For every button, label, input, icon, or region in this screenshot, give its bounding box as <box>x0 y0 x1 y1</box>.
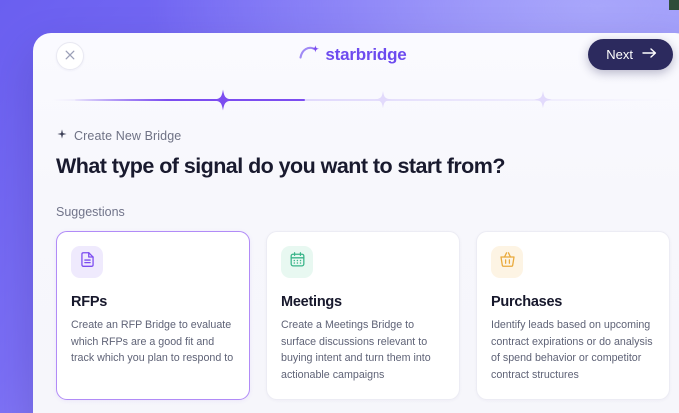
progress-step-2[interactable] <box>369 85 397 115</box>
suggestion-card-grid: RFPs Create an RFP Bridge to evaluate wh… <box>56 231 670 413</box>
card-title: Meetings <box>281 294 445 310</box>
progress-step-3[interactable] <box>529 85 557 115</box>
document-icon <box>79 251 96 273</box>
suggestion-card-purchases[interactable]: Purchases Identify leads based on upcomi… <box>476 231 670 400</box>
progress-step-1[interactable] <box>209 85 237 115</box>
shopping-basket-icon <box>499 251 516 273</box>
next-button[interactable]: Next <box>588 39 673 70</box>
breadcrumb: Create New Bridge <box>56 127 670 145</box>
card-description: Create a Meetings Bridge to surface disc… <box>281 317 445 383</box>
suggestion-card-rfps[interactable]: RFPs Create an RFP Bridge to evaluate wh… <box>56 231 250 400</box>
calendar-icon <box>289 251 306 273</box>
card-title: RFPs <box>71 294 235 310</box>
background-corner-artifact <box>669 0 679 10</box>
breadcrumb-label: Create New Bridge <box>74 129 181 143</box>
page-title: What type of signal do you want to start… <box>56 154 670 179</box>
suggestion-card-meetings[interactable]: Meetings Create a Meetings Bridge to sur… <box>266 231 460 400</box>
arrow-right-icon <box>642 47 657 62</box>
progress-fill-line <box>75 99 305 102</box>
modal-body: Create New Bridge What type of signal do… <box>33 115 679 413</box>
card-title: Purchases <box>491 294 655 310</box>
shopping-basket-icon-badge <box>491 246 523 278</box>
card-description: Create an RFP Bridge to evaluate which R… <box>71 317 235 367</box>
calendar-icon-badge <box>281 246 313 278</box>
sparkle-icon <box>56 127 68 145</box>
next-button-label: Next <box>606 47 633 62</box>
brand-lockup: starbridge <box>33 43 679 66</box>
brand-name: starbridge <box>325 45 406 65</box>
create-bridge-modal: starbridge Next <box>33 33 679 413</box>
modal-header: starbridge Next <box>33 33 679 79</box>
suggestions-label: Suggestions <box>56 205 670 219</box>
progress-stepper <box>53 85 673 115</box>
card-description: Identify leads based on upcoming contrac… <box>491 317 655 383</box>
starbridge-arc-sparkle-icon <box>299 43 320 66</box>
document-icon-badge <box>71 246 103 278</box>
